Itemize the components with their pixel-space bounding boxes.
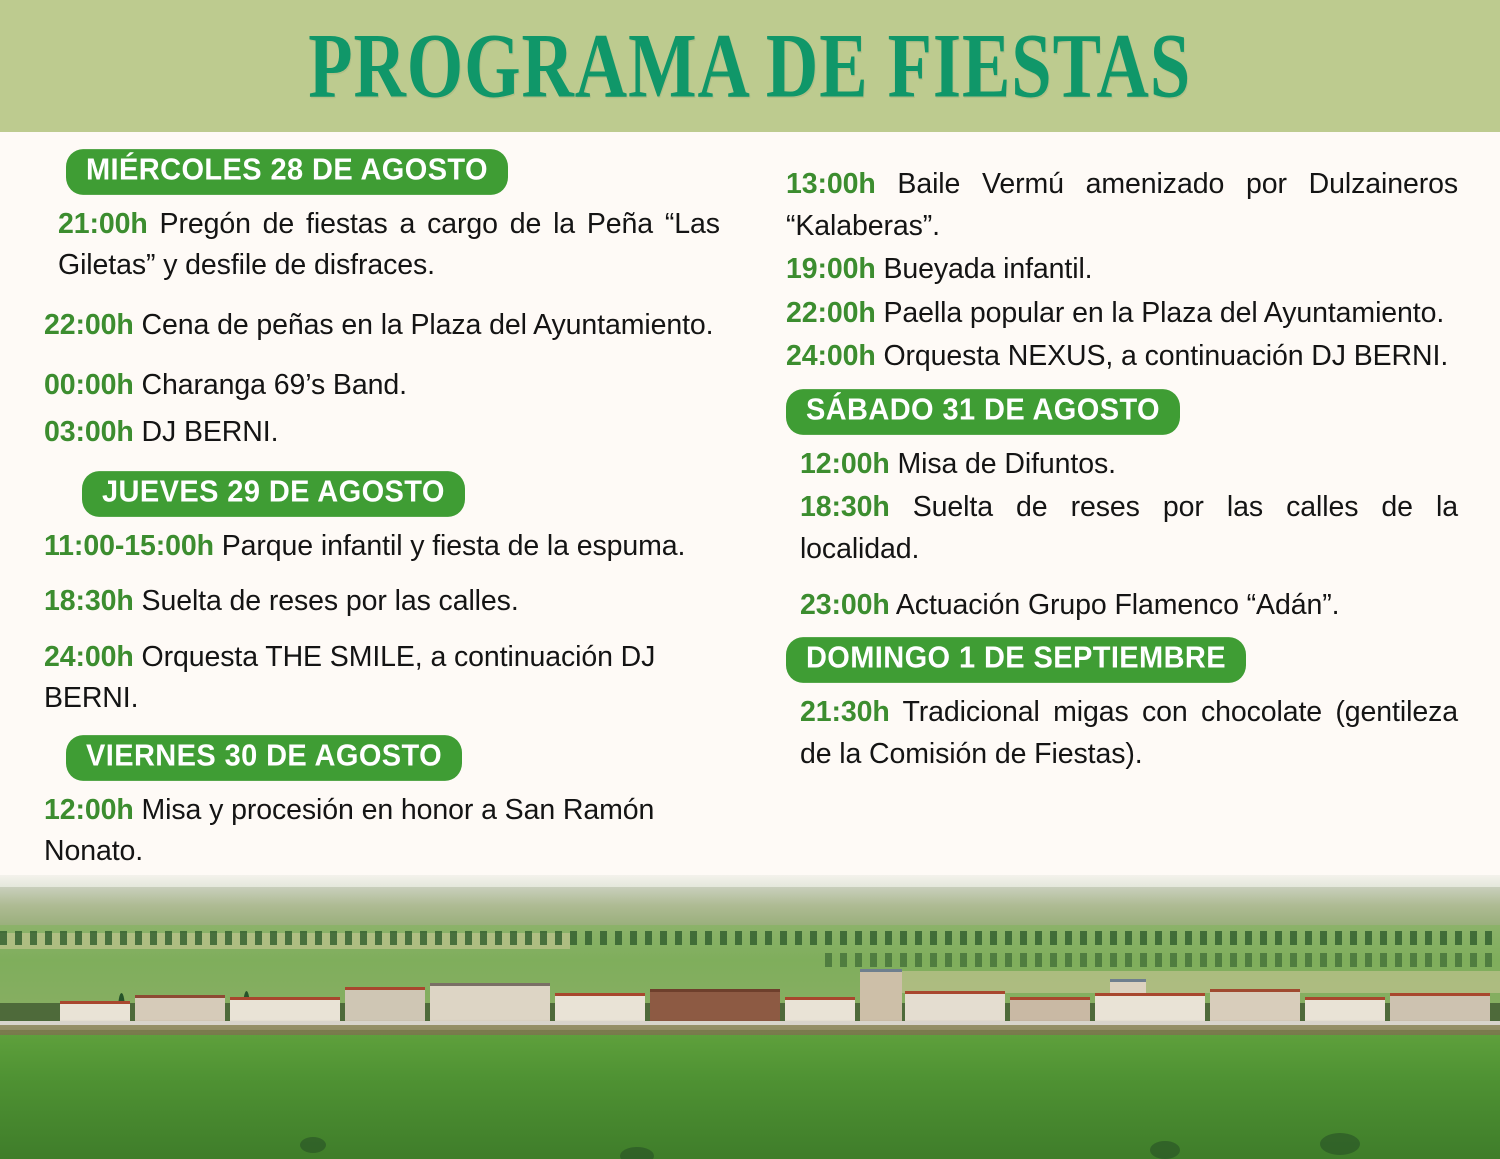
day-section-sabado-events: 12:00h Misa de Difuntos. 18:30h Suelta d… [786, 444, 1466, 626]
event-item: 03:00h DJ BERNI. [44, 412, 728, 454]
event-desc: Orquesta NEXUS, a continuación DJ BERNI. [883, 340, 1448, 372]
day-section-miercoles-header: MIÉRCOLES 28 DE AGOSTO [44, 150, 728, 194]
event-time: 11:00-15:00h [44, 530, 214, 562]
program-column-right: 13:00h Baile Vermú amenizado por Dulzain… [772, 150, 1466, 875]
day-section-viernes-events: 12:00h Misa y procesión en honor a San R… [44, 790, 728, 873]
event-desc: Actuación Grupo Flamenco “Adán”. [896, 589, 1340, 621]
event-item: 11:00-15:00h Parque infantil y fiesta de… [44, 526, 728, 568]
photo-bush [1320, 1133, 1360, 1155]
photo-bush [300, 1137, 326, 1153]
event-time: 12:00h [44, 794, 134, 826]
event-item: 13:00h Baile Vermú amenizado por Dulzain… [786, 164, 1466, 247]
day-section-viernes-header: VIERNES 30 DE AGOSTO [44, 736, 728, 780]
event-item: 18:30h Suelta de reses por las calles de… [786, 487, 1466, 570]
day-section-jueves-header: JUEVES 29 DE AGOSTO [44, 472, 728, 516]
event-item: 23:00h Actuación Grupo Flamenco “Adán”. [786, 585, 1466, 627]
event-time: 18:30h [44, 585, 134, 617]
event-time: 22:00h [44, 309, 134, 341]
event-desc: Misa y procesión en honor a San Ramón No… [44, 794, 654, 868]
photo-bush [620, 1147, 654, 1159]
event-item: 12:00h Misa de Difuntos. [786, 444, 1466, 486]
event-item: 22:00h Paella popular en la Plaza del Ay… [786, 293, 1466, 335]
event-desc: Pregón de fiestas a cargo de la Peña “La… [58, 208, 720, 282]
day-section-miercoles-events: 21:00h Pregón de fiestas a cargo de la P… [44, 204, 728, 454]
event-time: 24:00h [786, 340, 876, 372]
event-item: 24:00h Orquesta THE SMILE, a continuació… [44, 637, 728, 720]
poster-header-band: PROGRAMA DE FIESTAS [0, 0, 1500, 132]
event-time: 00:00h [44, 369, 134, 401]
event-item: 00:00h Charanga 69’s Band. [44, 365, 728, 407]
event-desc: Suelta de reses por las calles. [142, 585, 519, 617]
event-desc: Suelta de reses por las calles de la loc… [800, 491, 1458, 565]
program-content: MIÉRCOLES 28 DE AGOSTO 21:00h Pregón de … [0, 132, 1500, 875]
event-desc: DJ BERNI. [142, 416, 279, 448]
event-item: 12:00h Misa y procesión en honor a San R… [44, 790, 728, 873]
day-section-jueves-events: 11:00-15:00h Parque infantil y fiesta de… [44, 526, 728, 720]
photo-bush [1150, 1141, 1180, 1159]
program-column-left: MIÉRCOLES 28 DE AGOSTO 21:00h Pregón de … [34, 150, 728, 875]
event-time: 13:00h [786, 168, 876, 200]
event-time: 21:00h [58, 208, 148, 240]
event-time: 22:00h [786, 297, 876, 329]
photo-tree-line [0, 931, 1500, 945]
event-desc: Paella popular en la Plaza del Ayuntamie… [883, 297, 1444, 329]
day-pill-sabado: SÁBADO 31 DE AGOSTO [786, 389, 1180, 434]
event-time: 21:30h [800, 696, 890, 728]
event-item: 22:00h Cena de peñas en la Plaza del Ayu… [44, 305, 728, 347]
day-pill-domingo: DOMINGO 1 DE SEPTIEMBRE [786, 637, 1246, 682]
event-desc: Charanga 69’s Band. [142, 369, 407, 401]
event-time: 23:00h [800, 589, 890, 621]
event-desc: Parque infantil y fiesta de la espuma. [222, 530, 686, 562]
event-time: 24:00h [44, 641, 134, 673]
page-title: PROGRAMA DE FIESTAS [309, 13, 1192, 119]
event-item: 24:00h Orquesta NEXUS, a continuación DJ… [786, 336, 1466, 378]
village-aerial-photo [0, 875, 1500, 1159]
event-item: 21:30h Tradicional migas con chocolate (… [786, 692, 1466, 775]
event-desc: Bueyada infantil. [883, 253, 1092, 285]
event-item: 21:00h Pregón de fiestas a cargo de la P… [44, 204, 728, 287]
day-section-domingo-events: 21:30h Tradicional migas con chocolate (… [786, 692, 1466, 775]
day-section-sabado-header: SÁBADO 31 DE AGOSTO [786, 390, 1466, 434]
event-item: 18:30h Suelta de reses por las calles. [44, 581, 728, 623]
event-desc: Misa de Difuntos. [897, 448, 1115, 480]
day-pill-viernes: VIERNES 30 DE AGOSTO [66, 735, 462, 780]
event-time: 03:00h [44, 416, 134, 448]
day-pill-jueves: JUEVES 29 DE AGOSTO [82, 471, 465, 516]
event-desc: Tradicional migas con chocolate (gentile… [800, 696, 1458, 770]
photo-village-buildings [0, 961, 1500, 1027]
event-desc: Cena de peñas en la Plaza del Ayuntamien… [142, 309, 714, 341]
event-desc: Baile Vermú amenizado por Dulzaineros “K… [786, 168, 1458, 242]
photo-church-tower [860, 969, 902, 1027]
day-section-viernes-continued-events: 13:00h Baile Vermú amenizado por Dulzain… [786, 164, 1466, 378]
event-desc: Orquesta THE SMILE, a continuación DJ BE… [44, 641, 655, 715]
event-item: 19:00h Bueyada infantil. [786, 249, 1466, 291]
event-time: 12:00h [800, 448, 890, 480]
event-time: 18:30h [800, 491, 890, 523]
day-pill-miercoles: MIÉRCOLES 28 DE AGOSTO [66, 149, 508, 194]
event-time: 19:00h [786, 253, 876, 285]
day-section-domingo-header: DOMINGO 1 DE SEPTIEMBRE [786, 638, 1466, 682]
